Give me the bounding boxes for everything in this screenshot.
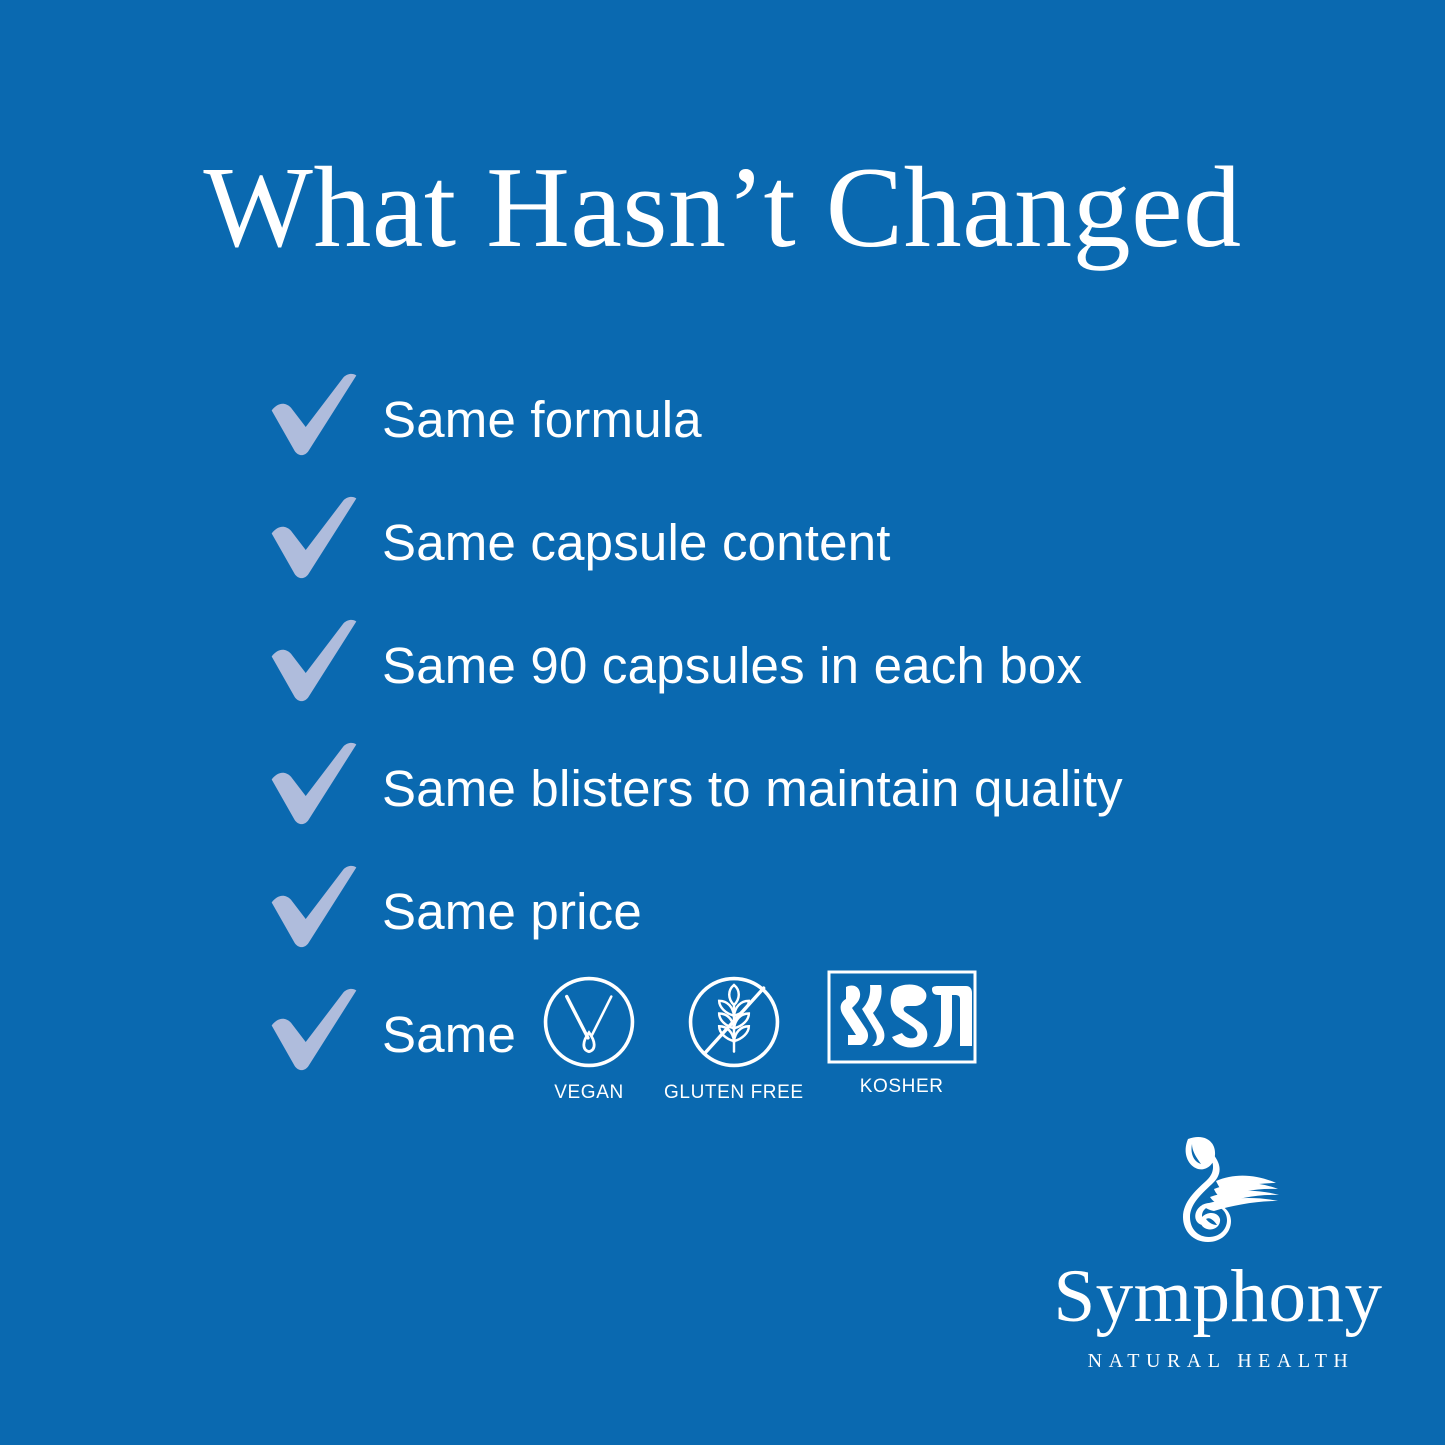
list-item-label: Same 90 capsules in each box: [382, 640, 1082, 691]
checkmark-icon: [268, 493, 360, 585]
checkmark-icon: [268, 862, 360, 954]
list-item-label: Same blisters to maintain quality: [382, 763, 1123, 814]
checkmark-icon: [268, 985, 360, 1077]
list-item: Same VEGAN: [268, 973, 1368, 1096]
vegan-icon: [536, 969, 642, 1075]
kosher-ksa-icon: [826, 969, 978, 1065]
badge-kosher: KOSHER: [826, 969, 978, 1098]
page-title: What Hasn’t Changed: [0, 148, 1445, 270]
badge-gluten-free: GLUTEN FREE: [664, 969, 804, 1104]
list-item-label: Same: [382, 1009, 516, 1060]
badge-label: GLUTEN FREE: [664, 1082, 804, 1104]
checkmark-icon: [268, 370, 360, 462]
gluten-free-icon: [681, 969, 787, 1075]
logo-tagline: NATURAL HEALTH: [1082, 1350, 1355, 1373]
list-item: Same 90 capsules in each box: [268, 604, 1368, 727]
poster-canvas: What Hasn’t Changed Same formula Same ca…: [0, 0, 1445, 1445]
checkmark-icon: [268, 739, 360, 831]
list-item: Same price: [268, 850, 1368, 973]
logo-wordmark: Symphony: [1053, 1259, 1382, 1334]
list-item: Same blisters to maintain quality: [268, 727, 1368, 850]
badge-label: KOSHER: [860, 1076, 944, 1098]
list-item-label: Same price: [382, 886, 642, 937]
checkmark-icon: [268, 616, 360, 708]
checklist: Same formula Same capsule content Same 9…: [268, 358, 1368, 1096]
brand-logo: Symphony NATURAL HEALTH: [1053, 1131, 1383, 1373]
leaf-swirl-icon: [1152, 1131, 1284, 1255]
list-item: Same capsule content: [268, 481, 1368, 604]
badge-label: VEGAN: [554, 1082, 624, 1104]
list-item-label: Same formula: [382, 394, 702, 445]
badge-vegan: VEGAN: [536, 969, 642, 1104]
list-item-label: Same capsule content: [382, 517, 891, 568]
list-item: Same formula: [268, 358, 1368, 481]
certification-badges: VEGAN: [536, 969, 978, 1104]
